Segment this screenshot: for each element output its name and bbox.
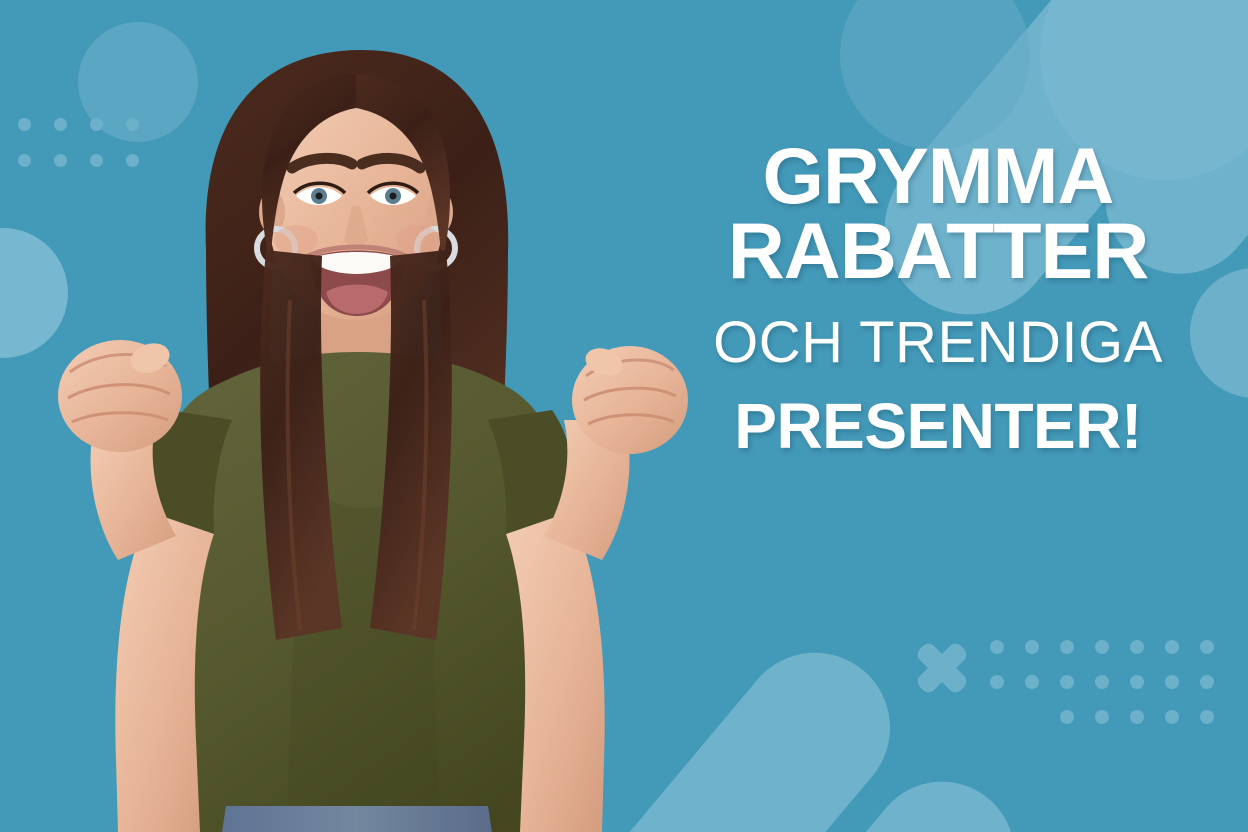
headline-line-3: OCH TRENDIGA [648, 314, 1228, 372]
cross-icon [912, 638, 972, 698]
fist-left [58, 339, 182, 452]
promo-banner: GRYMMA RABATTER OCH TRENDIGA PRESENTER! [0, 0, 1248, 832]
dot-grid-bottom-right-row3 [1060, 710, 1235, 745]
jeans [222, 806, 492, 832]
dot-grid-bottom-right-row1 [990, 640, 1235, 710]
model-illustration [0, 0, 700, 832]
model-photo [0, 0, 700, 832]
headline-line-1: GRYMMA [648, 138, 1228, 213]
headline-line-4: PRESENTER! [648, 394, 1228, 458]
headline-block: GRYMMA RABATTER OCH TRENDIGA PRESENTER! [648, 138, 1228, 458]
headline-line-2: RABATTER [648, 213, 1228, 288]
